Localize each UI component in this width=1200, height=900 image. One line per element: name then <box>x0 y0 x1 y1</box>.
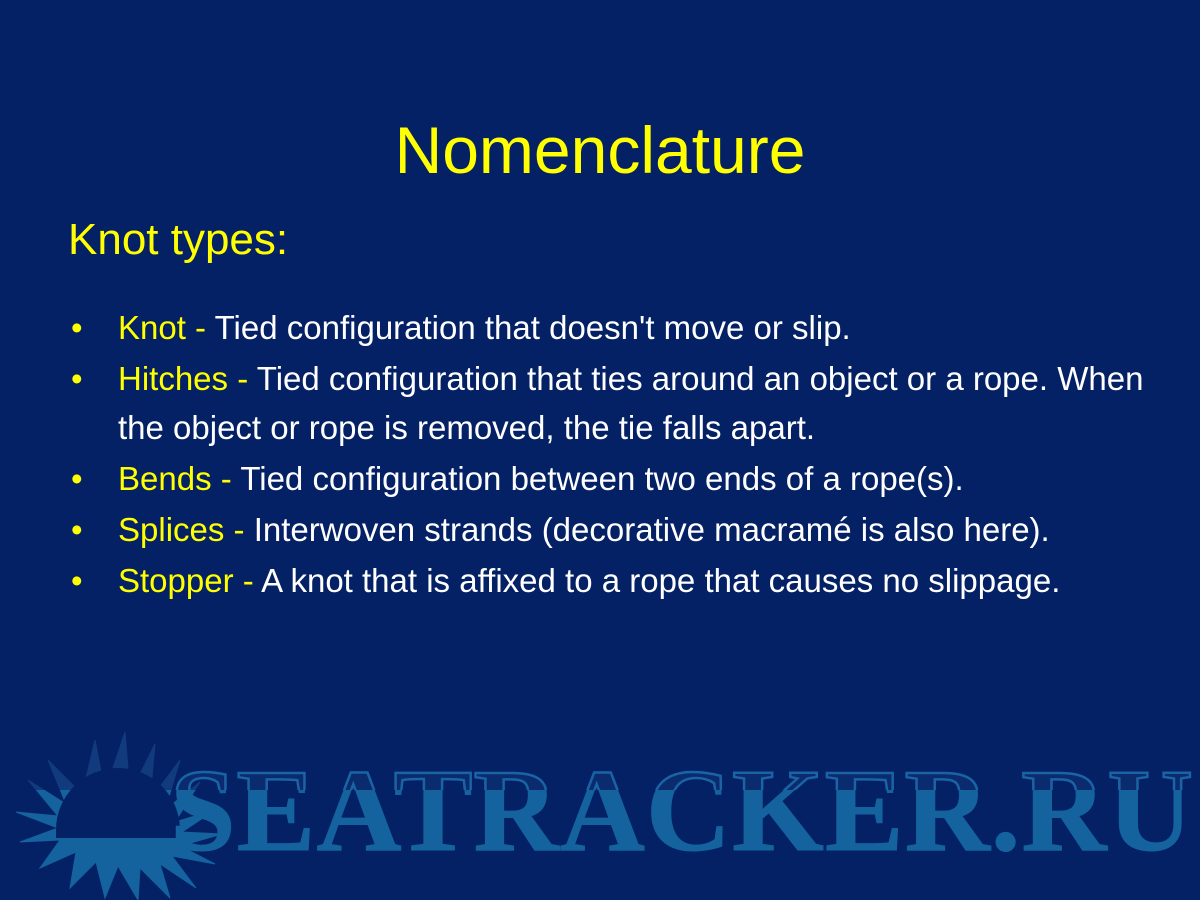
slide-content: Nomenclature Knot types: • Knot - Tied c… <box>0 0 1200 900</box>
list-item-term: Hitches <box>118 360 228 397</box>
list-item-dash: - <box>224 511 253 548</box>
page-title: Nomenclature <box>0 114 1200 187</box>
list-item-description: A knot that is affixed to a rope that ca… <box>261 562 1060 599</box>
list-item: • Knot - Tied configuration that doesn't… <box>62 303 1152 352</box>
knot-types-list: • Knot - Tied configuration that doesn't… <box>62 303 1152 607</box>
list-item: • Splices - Interwoven strands (decorati… <box>62 505 1152 554</box>
list-item-description: Interwoven strands (decorative macramé i… <box>254 511 1050 548</box>
bullet-point-icon: • <box>71 303 83 352</box>
list-item: • Bends - Tied configuration between two… <box>62 454 1152 503</box>
list-item: • Hitches - Tied configuration that ties… <box>62 354 1152 452</box>
list-item: • Stopper - A knot that is affixed to a … <box>62 556 1152 605</box>
list-item-description: Tied configuration that ties around an o… <box>118 360 1143 446</box>
list-item-description: Tied configuration between two ends of a… <box>240 460 963 497</box>
bullet-point-icon: • <box>71 556 83 605</box>
list-item-term: Splices <box>118 511 224 548</box>
presentation-slide: SEATRACKER.RU SEATRACKER.RU Nomenclature… <box>0 0 1200 900</box>
list-item-term: Knot <box>118 309 186 346</box>
list-item-description: Tied configuration that doesn't move or … <box>215 309 851 346</box>
list-item-dash: - <box>228 360 257 397</box>
list-item-term: Bends <box>118 460 212 497</box>
bullet-point-icon: • <box>71 354 83 403</box>
list-item-dash: - <box>234 562 262 599</box>
section-subtitle: Knot types: <box>68 215 288 266</box>
list-item-term: Stopper <box>118 562 234 599</box>
bullet-point-icon: • <box>71 454 83 503</box>
list-item-dash: - <box>186 309 215 346</box>
bullet-point-icon: • <box>71 505 83 554</box>
list-item-dash: - <box>212 460 241 497</box>
